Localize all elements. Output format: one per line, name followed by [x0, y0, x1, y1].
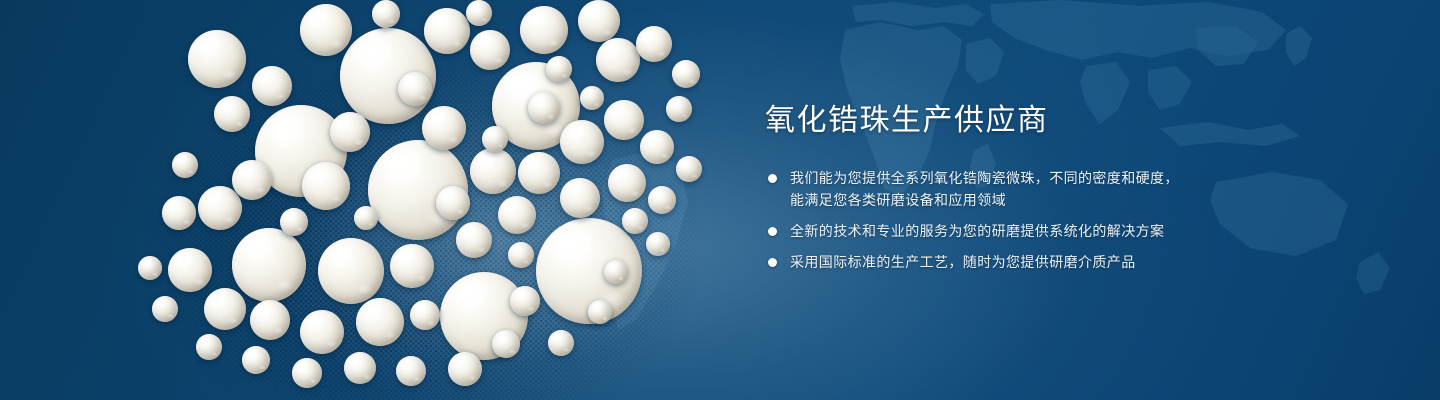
feature-list: 我们能为您提供全系列氧化锆陶瓷微珠，不同的密度和硬度， 能满足您各类研磨设备和应…: [765, 167, 1385, 273]
feature-text: 全新的技术和专业的服务为您的研磨提供系统化的解决方案: [790, 220, 1385, 242]
feature-list-item: 我们能为您提供全系列氧化锆陶瓷微珠，不同的密度和硬度， 能满足您各类研磨设备和应…: [765, 167, 1385, 211]
feature-list-item: 全新的技术和专业的服务为您的研磨提供系统化的解决方案: [765, 220, 1385, 242]
hero-banner: 氧化锆珠生产供应商 我们能为您提供全系列氧化锆陶瓷微珠，不同的密度和硬度， 能满…: [0, 0, 1440, 400]
feature-text-line-1: 全新的技术和专业的服务为您的研磨提供系统化的解决方案: [790, 223, 1164, 239]
feature-text-line-1: 我们能为您提供全系列氧化锆陶瓷微珠，不同的密度和硬度，: [790, 170, 1179, 186]
bullet-dot-icon: [768, 174, 777, 183]
bullet-dot-icon: [768, 258, 777, 267]
feature-list-item: 采用国际标准的生产工艺，随时为您提供研磨介质产品: [765, 251, 1385, 273]
feature-text: 采用国际标准的生产工艺，随时为您提供研磨介质产品: [790, 251, 1385, 273]
bullet-dot-icon: [768, 227, 777, 236]
halftone-texture: [90, 0, 730, 400]
feature-text-line-2: 能满足您各类研磨设备和应用领域: [790, 189, 1385, 211]
feature-text-line-1: 采用国际标准的生产工艺，随时为您提供研磨介质产品: [790, 254, 1136, 270]
feature-text: 我们能为您提供全系列氧化锆陶瓷微珠，不同的密度和硬度， 能满足您各类研磨设备和应…: [790, 167, 1385, 211]
banner-content: 氧化锆珠生产供应商 我们能为您提供全系列氧化锆陶瓷微珠，不同的密度和硬度， 能满…: [765, 104, 1385, 273]
banner-title: 氧化锆珠生产供应商: [765, 104, 1385, 139]
